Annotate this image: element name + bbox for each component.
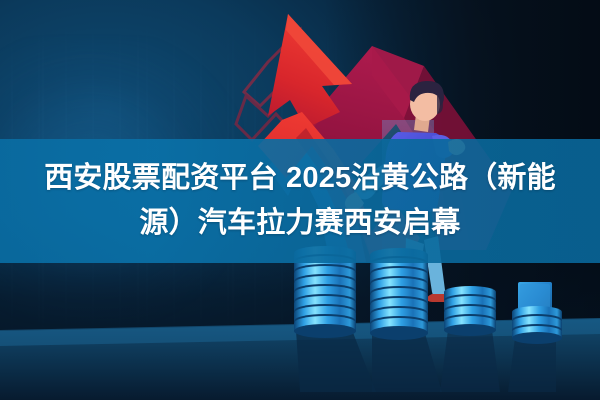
coin-stacks	[294, 246, 562, 392]
coin-stack-3	[444, 286, 496, 336]
title-banner: 西安股票配资平台 2025沿黄公路（新能源）汽车拉力赛西安启幕	[0, 139, 600, 263]
page-title: 西安股票配资平台 2025沿黄公路（新能源）汽车拉力赛西安启幕	[24, 156, 576, 246]
coin-stack-4	[512, 282, 562, 344]
promo-banner-image: 西安股票配资平台 2025沿黄公路（新能源）汽车拉力赛西安启幕	[0, 0, 600, 400]
